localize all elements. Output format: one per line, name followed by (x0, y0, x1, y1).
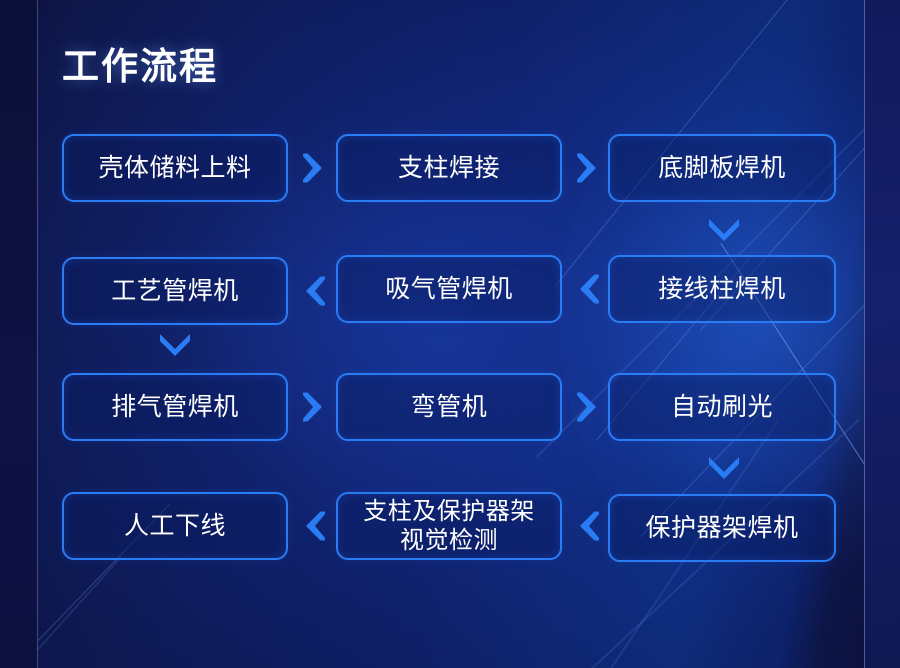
flow-node-r4c3[interactable]: 保护器架焊机 (608, 494, 836, 562)
right-divider-line (864, 0, 865, 668)
flow-node-r1c2[interactable]: 支柱焊接 (336, 134, 562, 202)
workflow-infographic: 工作流程 壳体储料上料 支柱焊接 底脚板焊机 工艺管焊机 吸气管焊机 (0, 0, 900, 668)
flow-node-r3c2[interactable]: 弯管机 (336, 373, 562, 441)
left-divider-line (37, 0, 38, 668)
right-edge-band (864, 0, 900, 668)
background-vignette (0, 0, 900, 668)
flow-node-r1c1[interactable]: 壳体储料上料 (62, 134, 288, 202)
flow-node-r2c1[interactable]: 工艺管焊机 (62, 257, 288, 325)
page-title: 工作流程 (62, 36, 218, 90)
flow-node-r3c3[interactable]: 自动刷光 (608, 373, 836, 441)
left-edge-band (0, 0, 37, 668)
flow-node-r4c1[interactable]: 人工下线 (62, 492, 288, 560)
flow-node-r1c3[interactable]: 底脚板焊机 (608, 134, 836, 202)
flow-node-r4c2[interactable]: 支柱及保护器架 视觉检测 (336, 492, 562, 560)
flow-node-r2c3[interactable]: 接线柱焊机 (608, 255, 836, 323)
flow-node-r2c2[interactable]: 吸气管焊机 (336, 255, 562, 323)
flow-node-r3c1[interactable]: 排气管焊机 (62, 373, 288, 441)
